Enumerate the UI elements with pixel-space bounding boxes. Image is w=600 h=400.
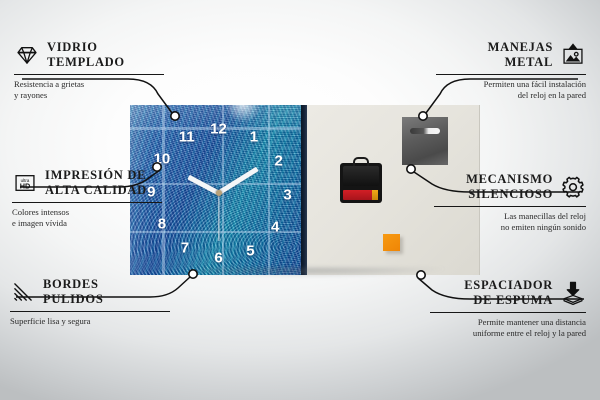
framed-picture-icon xyxy=(560,42,586,68)
feature-callout-mecanismo-silencioso[interactable]: MECANISMO SILENCIOSO Las manecillas del … xyxy=(434,172,586,234)
clock-numeral-4: 4 xyxy=(271,220,279,235)
feature-callout-manejas-metal[interactable]: MANEJAS METAL Permiten una fácil instala… xyxy=(436,40,586,102)
clock-numeral-2: 2 xyxy=(275,154,283,169)
clock-numeral-6: 6 xyxy=(214,251,222,266)
feature-callout-espaciador-de-espuma[interactable]: ESPACIADOR DE ESPUMA Permite mantener un… xyxy=(430,278,586,340)
feature-title: MANEJAS METAL xyxy=(488,40,553,70)
diamond-icon xyxy=(14,42,40,68)
title-underline xyxy=(434,206,586,207)
ultra-hd-icon: ultra HD xyxy=(12,170,38,196)
feature-description: Resistencia a grietas y rayones xyxy=(14,79,164,102)
clock-numeral-10: 10 xyxy=(154,152,171,167)
metal-hanger-plate xyxy=(402,117,448,165)
feature-description: Superficie lisa y segura xyxy=(10,316,170,328)
feature-title: VIDRIO TEMPLADO xyxy=(47,40,125,70)
feature-title: MECANISMO SILENCIOSO xyxy=(466,172,553,202)
foam-spacer-pad xyxy=(383,234,400,251)
feature-callout-bordes-pulidos[interactable]: BORDES PULIDOS Superficie lisa y segura xyxy=(10,277,170,327)
svg-text:HD: HD xyxy=(20,181,31,190)
mechanism-hook xyxy=(353,157,369,166)
clock-second-hand xyxy=(218,193,219,241)
clock-numeral-5: 5 xyxy=(246,244,254,259)
foam-spacer-icon xyxy=(560,280,586,306)
clock-numeral-11: 11 xyxy=(179,130,195,145)
hanger-slot xyxy=(410,128,440,134)
title-underline xyxy=(430,312,586,313)
feature-description: Las manecillas del reloj no emiten ningú… xyxy=(434,211,586,234)
mechanism-housing xyxy=(343,166,379,186)
title-underline xyxy=(436,74,586,75)
feature-title: IMPRESIÓN DE ALTA CALIDAD xyxy=(45,168,147,198)
clock-numeral-1: 1 xyxy=(250,130,258,145)
gear-icon xyxy=(560,174,586,200)
clock-numeral-3: 3 xyxy=(283,188,291,203)
feature-callout-impresion-alta-calidad[interactable]: ultra HD IMPRESIÓN DE ALTA CALIDAD Color… xyxy=(12,168,162,230)
battery-label xyxy=(343,190,373,200)
title-underline xyxy=(14,74,164,75)
title-underline xyxy=(10,311,170,312)
infographic-canvas: 12 1 2 3 4 5 6 7 8 9 10 11 xyxy=(0,0,600,400)
battery-terminal xyxy=(372,190,378,200)
clock-mechanism xyxy=(340,163,382,203)
title-underline xyxy=(12,202,162,203)
product-photo-group: 12 1 2 3 4 5 6 7 8 9 10 11 xyxy=(130,105,480,275)
polished-edges-icon xyxy=(10,279,36,305)
feature-callout-vidrio-templado[interactable]: VIDRIO TEMPLADO Resistencia a grietas y … xyxy=(14,40,164,102)
clock-numeral-12: 12 xyxy=(210,121,227,136)
feature-description: Permiten una fácil instalación del reloj… xyxy=(436,79,586,102)
feature-description: Permite mantener una distancia uniforme … xyxy=(430,317,586,340)
clock-center-cap xyxy=(216,190,222,196)
clock-numeral-7: 7 xyxy=(181,240,189,255)
feature-title: ESPACIADOR DE ESPUMA xyxy=(464,278,553,308)
feature-description: Colores intensos e imagen vívida xyxy=(12,207,162,230)
feature-title: BORDES PULIDOS xyxy=(43,277,103,307)
